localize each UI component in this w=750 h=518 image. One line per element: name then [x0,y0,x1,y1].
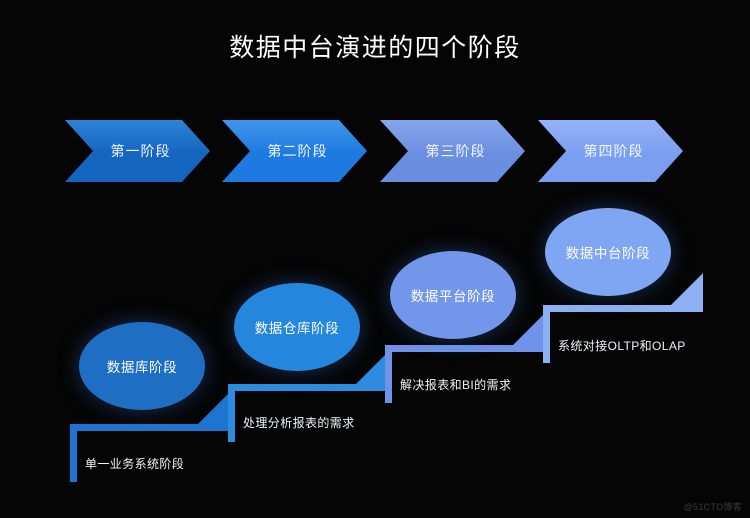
phase-chevron-label: 第四阶段 [584,141,644,161]
step-stage-label: 数据仓库阶段 [255,317,340,337]
step-bracket-horizontal [228,384,388,391]
step-stage-label: 数据中台阶段 [566,242,651,262]
step-caption: 处理分析报表的需求 [243,414,355,431]
presentation-slide: 数据中台演进的四个阶段 第一阶段第二阶段第三阶段第四阶段 数据库阶段单一业务系统… [0,0,750,518]
phase-chevron-label: 第二阶段 [268,141,328,161]
step-stage-circle[interactable]: 数据库阶段 [79,322,205,410]
phase-chevron-label: 第一阶段 [111,141,171,161]
step-bracket-horizontal [385,345,545,352]
step-stage-label: 数据库阶段 [107,356,178,376]
step-caption: 系统对接OLTP和OLAP [558,337,686,354]
step-stage-circle[interactable]: 数据仓库阶段 [234,283,360,371]
watermark: @51CTO博客 [684,500,742,513]
step-bracket-vertical [228,384,235,442]
step-bracket-horizontal [70,424,230,431]
step-bracket-notch-icon [356,352,388,384]
step-bracket-notch-icon [198,392,230,424]
step-bracket-notch-icon [671,273,703,305]
step-bracket-vertical [70,424,77,482]
phase-chevron-label: 第三阶段 [426,141,486,161]
step-bracket-vertical [385,345,392,403]
step-stage-circle[interactable]: 数据中台阶段 [545,208,671,296]
step-bracket-horizontal [543,305,703,312]
page-title: 数据中台演进的四个阶段 [0,28,750,64]
step-bracket-vertical [543,305,550,363]
step-caption: 单一业务系统阶段 [85,455,184,472]
step-stage-circle[interactable]: 数据平台阶段 [390,251,516,339]
step-stage-label: 数据平台阶段 [411,285,496,305]
step-caption: 解决报表和BI的需求 [400,376,511,393]
step-bracket-notch-icon [513,313,545,345]
